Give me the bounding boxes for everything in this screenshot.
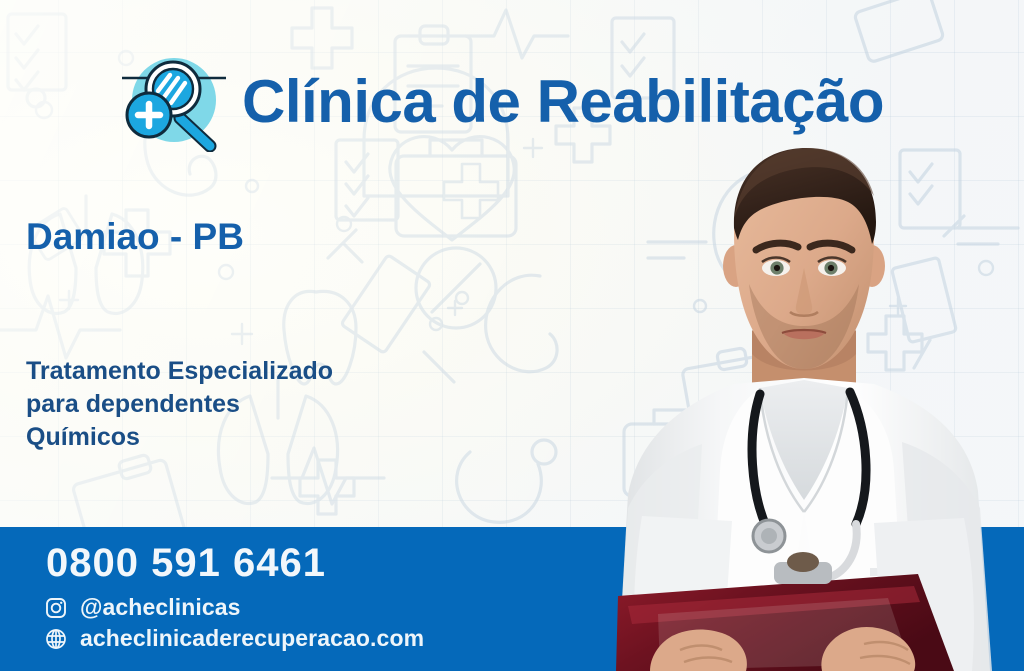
doctor-photo	[584, 116, 1024, 671]
instagram-icon	[44, 596, 68, 620]
description-line-1: Tratamento Especializado	[26, 355, 333, 388]
description-line-2: para dependentes	[26, 388, 333, 421]
magnifier-plus-icon	[118, 52, 228, 152]
globe-icon	[44, 627, 68, 651]
location-label: Damiao - PB	[26, 217, 244, 258]
phone-number[interactable]: 0800 591 6461	[46, 541, 326, 586]
contact-instagram[interactable]: @acheclinicas	[44, 592, 424, 623]
description-block: Tratamento Especializado para dependente…	[26, 355, 333, 454]
contact-website[interactable]: acheclinicaderecuperacao.com	[44, 623, 424, 654]
description-line-3: Químicos	[26, 421, 333, 454]
instagram-handle: @acheclinicas	[80, 594, 241, 621]
website-url: acheclinicaderecuperacao.com	[80, 625, 424, 652]
clinic-banner: Clínica de Reabilitação Damiao - PB Trat…	[0, 0, 1024, 671]
contact-list: @acheclinicas acheclinicaderecuperacao.c…	[44, 592, 424, 654]
